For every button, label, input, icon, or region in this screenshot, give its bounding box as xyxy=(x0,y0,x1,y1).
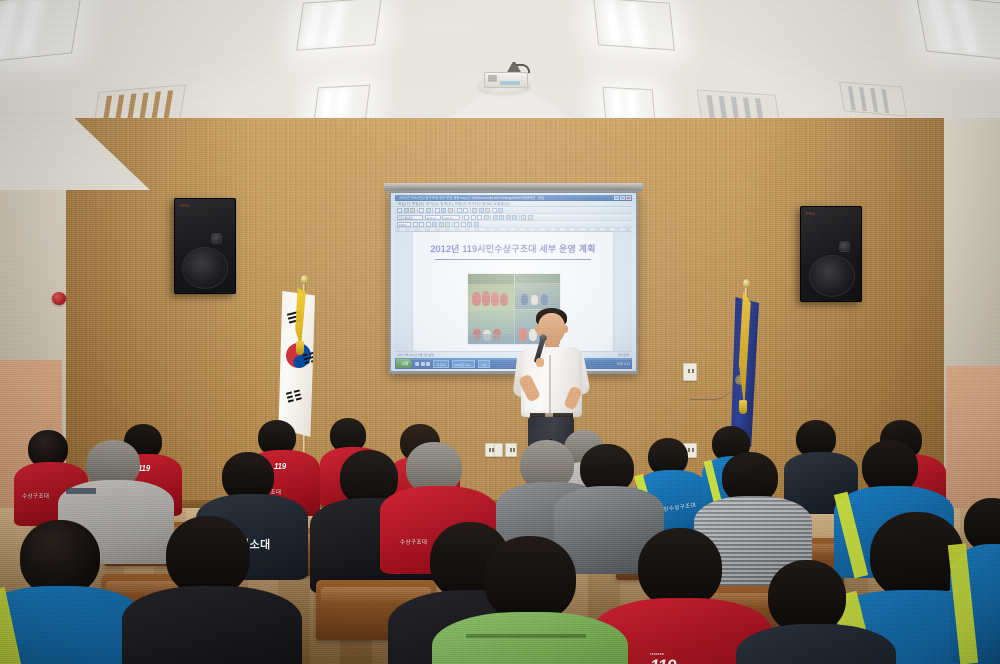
auditorium-photo: PRO PRO 2012년 119시민수상구조대 세부 운영 계획.hwp [C… xyxy=(0,0,1000,664)
collage-photo-3 xyxy=(468,310,514,345)
number-list-icon[interactable] xyxy=(528,215,533,220)
app-toolbar-row-2[interactable]: 함초롬바탕 10.0 pt 160 % xyxy=(395,214,632,221)
attendee-shirt-text: 수상구조대 xyxy=(22,492,49,500)
ceiling-projector xyxy=(480,62,532,88)
toolbar-separator xyxy=(417,208,418,213)
fire-alarm-bell-icon xyxy=(52,292,66,305)
quick-launch-mail-icon[interactable] xyxy=(421,362,425,366)
zoom-combo[interactable]: 100% xyxy=(397,222,411,227)
statusbar-right-text: 문자입력 xyxy=(618,352,629,358)
collage-photo-1 xyxy=(468,274,514,309)
line-style-icon[interactable] xyxy=(445,222,450,227)
ceiling-light-fixture xyxy=(0,0,82,62)
maximize-button[interactable] xyxy=(620,196,625,200)
projector-label xyxy=(500,81,520,85)
speaker-bracket xyxy=(217,292,231,294)
presenter-ear xyxy=(563,325,568,333)
speaker-woofer xyxy=(182,247,228,289)
projector-lens xyxy=(488,75,497,82)
paste-icon[interactable] xyxy=(448,208,453,213)
attendee-epaulet xyxy=(66,488,96,494)
speaker-bracket xyxy=(843,300,857,302)
flagpole-finial xyxy=(743,279,750,288)
redo-icon[interactable] xyxy=(463,208,468,213)
app-toolbar-row-3[interactable]: 100% xyxy=(395,221,632,228)
statusbar-left-text: 1/3 구역 1/1 단 1줄 1칸 삽입 xyxy=(398,352,434,358)
group-icon[interactable] xyxy=(454,222,459,227)
fill-color-icon[interactable] xyxy=(439,222,444,227)
copy-icon[interactable] xyxy=(441,208,446,213)
quick-launch-browser-icon[interactable] xyxy=(415,362,419,366)
speaker-woofer xyxy=(809,255,855,297)
close-button[interactable] xyxy=(626,196,631,200)
window-controls[interactable] xyxy=(614,196,631,200)
ceiling-light-fixture xyxy=(593,0,675,51)
app-toolbar-row-1[interactable] xyxy=(395,207,632,214)
attendee-shirt-logo: 119 xyxy=(274,462,286,471)
toolbar-separator xyxy=(432,208,433,213)
taskbar-clock[interactable]: 오후 2:41 xyxy=(617,361,630,366)
speaker-bracket xyxy=(807,300,821,302)
attendee-sash xyxy=(0,587,31,664)
toolbar-separator xyxy=(490,215,491,220)
wall-outlet xyxy=(494,443,503,457)
flagpole-finial xyxy=(301,275,308,284)
toolbar-separator xyxy=(452,222,453,227)
flag-tassel-left xyxy=(296,341,304,355)
send-back-icon[interactable] xyxy=(474,222,479,227)
preview-icon[interactable] xyxy=(426,208,431,213)
ceiling-light-fixture xyxy=(314,85,371,122)
attendee-torso xyxy=(950,544,1000,664)
presenter-shirt-placket xyxy=(549,355,551,413)
attendee-head xyxy=(484,536,576,622)
toolbar-separator xyxy=(470,208,471,213)
attendee-shirt-text: 수상구조대 xyxy=(400,538,427,546)
font-size-combo[interactable]: 10.0 pt xyxy=(425,215,441,220)
open-doc-icon[interactable] xyxy=(404,208,409,213)
toolbar-separator xyxy=(454,208,455,213)
undo-icon[interactable] xyxy=(457,208,462,213)
font-color-icon[interactable] xyxy=(484,215,489,220)
align-justify-icon[interactable] xyxy=(512,215,517,220)
attendee-jacket xyxy=(432,612,628,664)
insert-chart-icon[interactable] xyxy=(485,208,490,213)
align-left-icon[interactable] xyxy=(493,215,498,220)
insert-shape-icon[interactable] xyxy=(492,208,497,213)
app-title-text: 2012년 119시민수상구조대 세부 운영 계획.hwp [C:\WDocum… xyxy=(399,196,544,200)
attendee-head xyxy=(20,520,100,596)
flag-tassel-right xyxy=(739,400,747,414)
jacket-seam xyxy=(466,634,586,638)
print-icon[interactable] xyxy=(419,208,424,213)
ceiling-light-fixture xyxy=(296,0,382,51)
ceiling-light-fixture xyxy=(916,0,1000,60)
attendee-shirt-logo: 119SAFE 119 xyxy=(650,652,676,664)
quick-launch-media-icon[interactable] xyxy=(426,362,430,366)
ungroup-icon[interactable] xyxy=(461,222,466,227)
toolbar-separator xyxy=(519,215,520,220)
attendee-head xyxy=(166,516,250,596)
new-doc-icon[interactable] xyxy=(397,208,402,213)
draw-arrow-icon[interactable] xyxy=(432,222,437,227)
draw-line-icon[interactable] xyxy=(413,222,418,227)
taskbar-item[interactable]: 내 문서 xyxy=(433,360,448,368)
insert-table-icon[interactable] xyxy=(472,208,477,213)
italic-icon[interactable] xyxy=(471,215,476,220)
presenter-hand xyxy=(536,358,544,367)
toolbar-separator xyxy=(462,215,463,220)
south-korea-flag xyxy=(277,291,315,437)
trigram-gon xyxy=(286,389,302,403)
cut-icon[interactable] xyxy=(435,208,440,213)
quick-launch-tray[interactable] xyxy=(415,362,430,366)
taskbar-item[interactable]: 2012년 119... xyxy=(452,360,476,368)
attendee-shirt-number: 119 xyxy=(650,656,676,664)
attendee-head xyxy=(768,560,846,634)
draw-rect-icon[interactable] xyxy=(419,222,424,227)
line-spacing-combo[interactable]: 160 % xyxy=(442,215,460,220)
slide-title-underline xyxy=(435,259,591,260)
attendee-torso xyxy=(122,586,302,664)
underline-icon[interactable] xyxy=(477,215,482,220)
bold-icon[interactable] xyxy=(464,215,469,220)
attendee-sash xyxy=(948,543,978,664)
align-center-icon[interactable] xyxy=(499,215,504,220)
air-vent xyxy=(839,81,907,116)
font-name-combo[interactable]: 함초롬바탕 xyxy=(397,215,423,220)
speaker-bracket xyxy=(181,292,195,294)
wall-speaker-right: PRO xyxy=(800,206,862,302)
taskbar-item[interactable]: 사진 xyxy=(478,360,490,368)
save-doc-icon[interactable] xyxy=(410,208,415,213)
draw-ellipse-icon[interactable] xyxy=(426,222,431,227)
speaker-brand-label: PRO xyxy=(180,203,190,208)
bring-front-icon[interactable] xyxy=(467,222,472,227)
insert-image-icon[interactable] xyxy=(479,208,484,213)
speaker-brand-label: PRO xyxy=(806,211,816,216)
presenter-ear xyxy=(535,325,540,333)
attendee-sash xyxy=(834,492,868,579)
minimize-button[interactable] xyxy=(614,196,619,200)
speaker-tweeter xyxy=(211,233,222,244)
align-right-icon[interactable] xyxy=(506,215,511,220)
find-icon[interactable] xyxy=(498,208,503,213)
slide-title: 2012년 119시민수상구조대 세부 운영 계획 xyxy=(413,242,613,255)
bullet-list-icon[interactable] xyxy=(521,215,526,220)
wall-speaker-left: PRO xyxy=(174,198,236,294)
start-button[interactable]: 시작 xyxy=(396,359,412,368)
attendee-head xyxy=(638,528,722,608)
speaker-tweeter xyxy=(839,241,850,252)
